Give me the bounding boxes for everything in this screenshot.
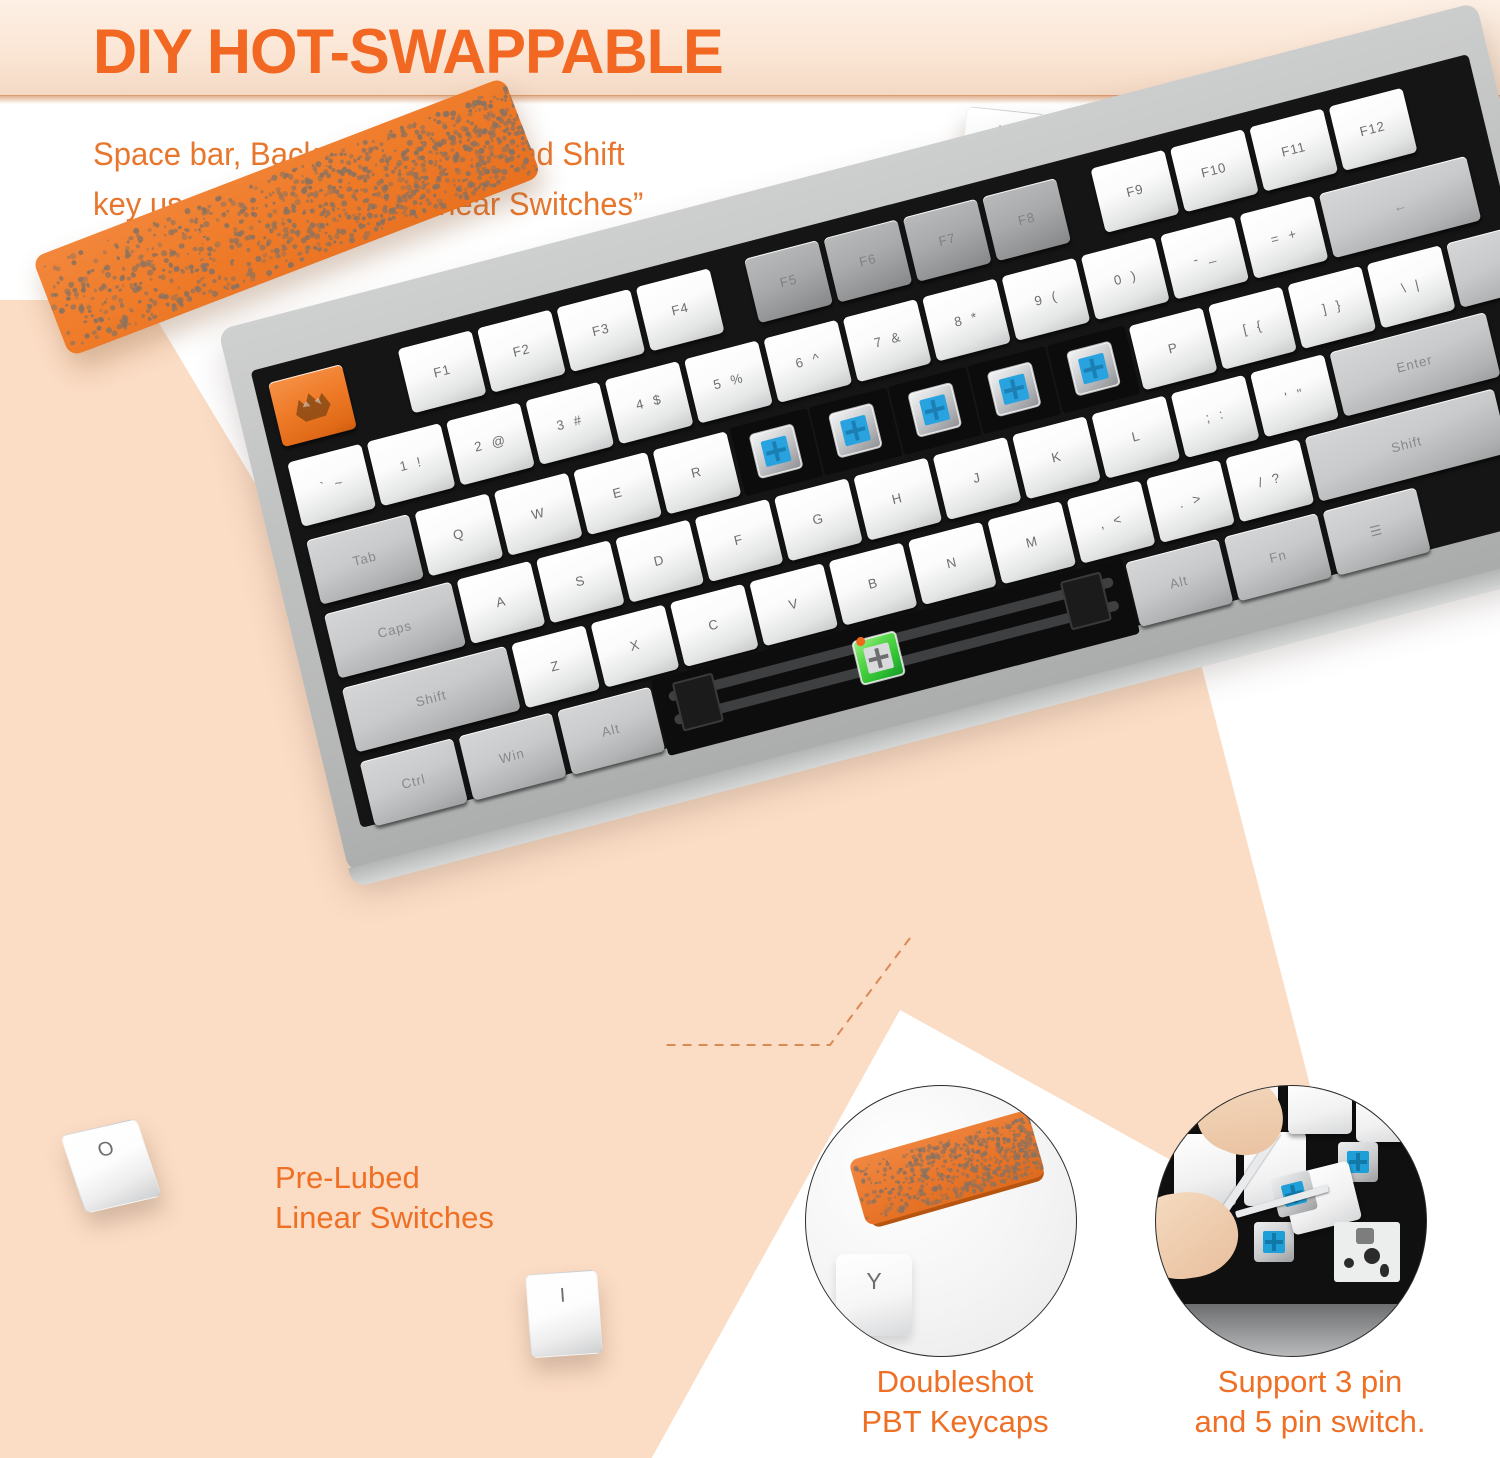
callout-doubleshot-pbt-keycaps: Doubleshot PBT Keycaps: [840, 1362, 1070, 1443]
key-legend: F: [733, 532, 745, 549]
keycap-legend: Y: [866, 1268, 881, 1295]
key-legend: F6: [858, 252, 878, 271]
key-legend: F7: [937, 231, 957, 250]
key-legend: 8 *: [953, 310, 979, 330]
key-legend: C: [707, 617, 721, 634]
key-legend: Shift: [1390, 434, 1424, 456]
callout-support-3-and-5-pin: Support 3 pin and 5 pin switch.: [1170, 1362, 1450, 1443]
halftone-dot-pattern: [848, 1110, 1046, 1227]
wolf-head-logo-icon: [287, 384, 338, 428]
inset-white-y-keycap: Y: [836, 1254, 912, 1336]
key-legend: 4 $: [635, 392, 664, 413]
keycap-top: [848, 1110, 1046, 1227]
exposed-blue-switch[interactable]: [988, 362, 1041, 416]
key-legend: Z: [550, 659, 562, 676]
exposed-blue-switch[interactable]: [1067, 342, 1120, 396]
key-legend: S: [574, 573, 587, 590]
key-legend: H: [891, 491, 905, 508]
key-legend: ; :: [1204, 407, 1225, 426]
key-legend: . >: [1178, 491, 1203, 511]
key-legend: ←: [1391, 198, 1408, 216]
key-legend: M: [1024, 534, 1039, 551]
exposed-green-switch[interactable]: [852, 631, 905, 685]
key-legend: \ |: [1401, 277, 1422, 296]
key-legend: B: [867, 576, 880, 593]
exposed-blue-switch[interactable]: [908, 383, 961, 437]
key-legend: F9: [1125, 182, 1145, 201]
key-legend: F4: [670, 301, 690, 320]
key-legend: F8: [1016, 210, 1036, 229]
key-legend: Shift: [414, 688, 448, 710]
key-legend: [ {: [1241, 319, 1263, 338]
exposed-blue-switch[interactable]: [750, 424, 803, 478]
keycap-legend: I: [559, 1284, 566, 1307]
key-legend: - _: [1192, 248, 1218, 268]
key-legend: Caps: [376, 619, 413, 642]
page-title: DIY HOT-SWAPPABLE: [93, 16, 723, 88]
key-legend: 5 %: [712, 371, 745, 393]
key-legend: ' ": [1284, 386, 1305, 405]
key-legend: F2: [511, 342, 531, 361]
inset-switch-pull-photo: [1155, 1085, 1427, 1357]
key-legend: = +: [1269, 227, 1298, 248]
key-legend: R: [690, 464, 704, 481]
exposed-blue-switch[interactable]: [829, 404, 882, 458]
key-legend: Alt: [1169, 573, 1190, 592]
key-legend: F11: [1280, 140, 1307, 160]
key-legend: Ctrl: [400, 772, 427, 792]
key-legend: L: [1130, 429, 1142, 445]
key-legend: Alt: [601, 721, 622, 740]
photo-blue-switch: [1254, 1222, 1294, 1262]
key-legend: K: [1050, 449, 1063, 466]
key-legend: V: [787, 596, 800, 613]
photo-keycap: [1288, 1085, 1352, 1134]
photo-keyboard-edge: [1156, 1304, 1427, 1356]
keycap-legend: O: [95, 1137, 117, 1162]
key-legend: Fn: [1268, 548, 1288, 567]
key-legend: / ?: [1257, 471, 1282, 491]
key-legend: , <: [1098, 512, 1123, 532]
key-legend: Tab: [352, 549, 379, 569]
callout-pre-lubed-linear-switches: Pre-Lubed Linear Switches: [275, 1158, 494, 1239]
key-legend: E: [611, 485, 624, 502]
product-infographic: DIY HOT-SWAPPABLE Space bar, Backspace, …: [0, 0, 1500, 1458]
key-legend: F12: [1359, 119, 1387, 140]
key-legend: ☰: [1369, 523, 1385, 540]
key-legend: 9 (: [1033, 289, 1059, 309]
key-legend: A: [494, 594, 507, 611]
key-legend: Win: [498, 746, 526, 767]
key-legend: X: [628, 638, 641, 655]
key-legend: Enter: [1396, 353, 1435, 376]
key-legend: 3 #: [555, 413, 584, 434]
key-legend: F10: [1200, 160, 1228, 181]
key-legend: 6 ^: [794, 351, 821, 371]
key-legend: ` ~: [319, 475, 345, 495]
inset-doubleshot-keycaps-photo: Y: [805, 1085, 1077, 1357]
inset-orange-spacebar: [848, 1110, 1046, 1227]
key-legend: 7 &: [872, 330, 902, 351]
key-legend: 2 @: [473, 433, 507, 455]
key-legend: 1 !: [399, 455, 424, 475]
key-legend: F3: [591, 321, 611, 340]
key-legend: N: [946, 555, 960, 572]
photo-empty-socket-pcb: [1334, 1222, 1400, 1282]
floating-keycap-i: I: [525, 1270, 603, 1359]
key-legend: F5: [778, 272, 798, 291]
key-legend: F1: [432, 363, 452, 382]
key-legend: W: [530, 505, 547, 523]
key-legend: J: [972, 470, 983, 486]
photo-keycap: [1356, 1088, 1416, 1142]
key-legend: Q: [452, 526, 466, 543]
key-legend: ] }: [1321, 298, 1343, 317]
key-legend: D: [653, 553, 667, 570]
key-legend: 0 ): [1112, 269, 1138, 289]
key-legend: P: [1167, 341, 1180, 358]
key-legend: G: [811, 511, 825, 528]
